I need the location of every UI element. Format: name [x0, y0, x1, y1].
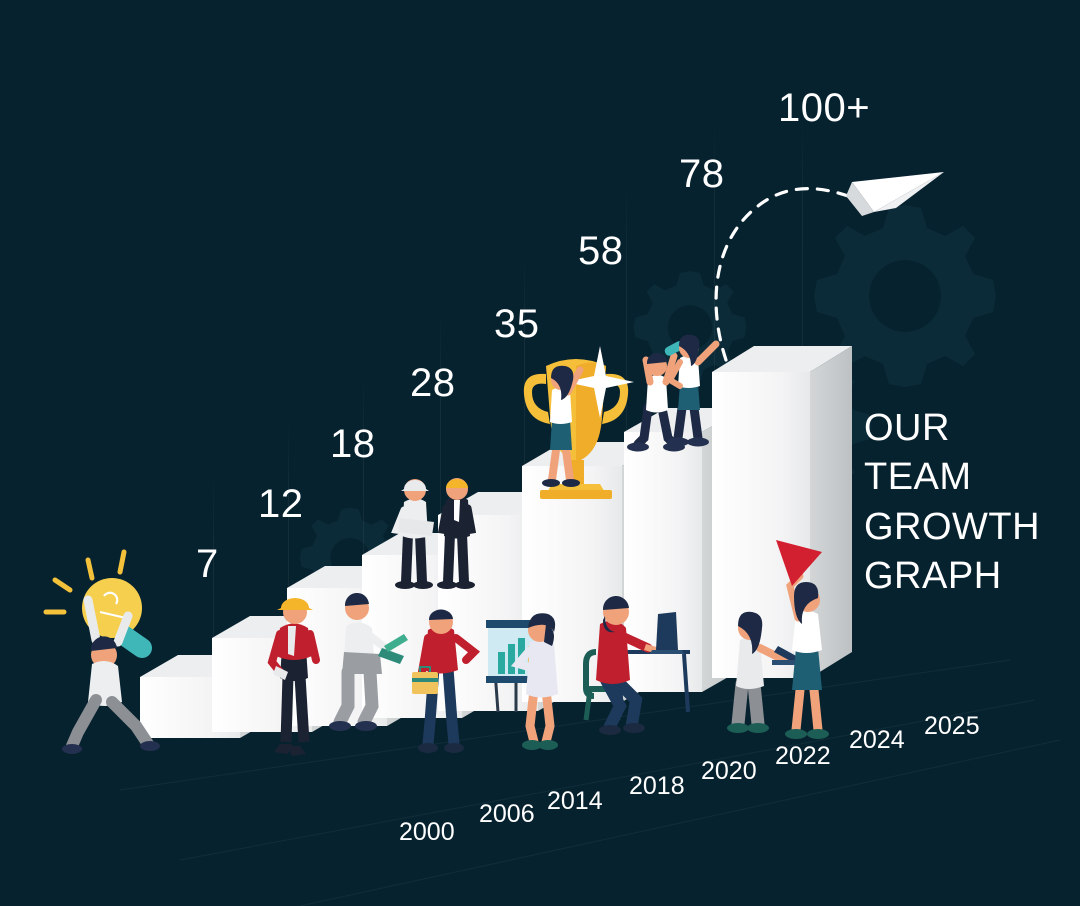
value-label-2014: 18	[330, 424, 376, 464]
flight-path-dashed	[716, 189, 848, 360]
year-label-2000: 2000	[399, 820, 455, 845]
value-label-2020: 35	[494, 304, 540, 344]
year-label-2025: 2025	[924, 714, 980, 739]
title-line-3: GROWTH	[864, 503, 1040, 552]
value-label-2024: 78	[679, 154, 725, 194]
year-label-2020: 2020	[701, 759, 757, 784]
year-label-2018: 2018	[629, 774, 685, 799]
year-label-2014: 2014	[547, 789, 603, 814]
paper-plane-icon	[846, 172, 944, 216]
title-line-4: GRAPH	[864, 552, 1040, 601]
infographic-canvas: 7 12 18 28 35 58 78 100+ 2000 2006 2014 …	[0, 0, 1080, 906]
year-label-2022: 2022	[775, 744, 831, 769]
page-title: OUR TEAM GROWTH GRAPH	[864, 404, 1040, 602]
year-label-2006: 2006	[479, 802, 535, 827]
value-label-2022: 58	[578, 231, 624, 271]
title-line-2: TEAM	[864, 453, 1040, 502]
bar-2025	[712, 346, 852, 678]
year-label-2024: 2024	[849, 728, 905, 753]
value-label-2000: 7	[196, 544, 219, 584]
title-line-1: OUR	[864, 404, 1040, 453]
value-label-2006: 12	[258, 484, 304, 524]
value-label-2018: 28	[410, 363, 456, 403]
value-label-2025: 100+	[778, 88, 870, 128]
